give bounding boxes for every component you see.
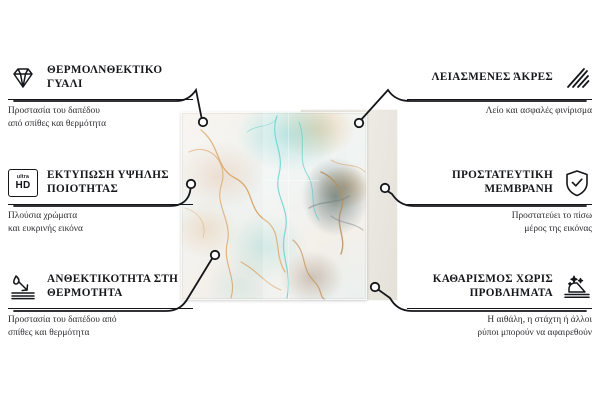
description-line: Προστασία του δαπέδου από: [8, 314, 193, 327]
feature-left-1: ΘΕΡΜΟΛΝΘΕΚΤΙΚΟ ΓΥΑΛΙ Προστασία του δαπέδ…: [8, 62, 193, 130]
feature-left-2: ultra HD ΕΚΤΥΠΩΣΗ ΥΨΗΛΗΣ ΠΟΙΟΤΗΤΑΣ Πλούσ…: [8, 167, 193, 235]
marble-veins: [181, 112, 367, 300]
description-line: Προστασία του δαπέδου: [8, 105, 193, 118]
feature-description: Προστατεύει το πίσω μέρος της εικόνας: [407, 210, 592, 235]
shield-check-icon: [562, 168, 592, 198]
glass-panel: [181, 112, 367, 300]
description-line: σπίθες και θερμότητα: [8, 327, 193, 340]
feature-header: ΑΝΘΕΚΤΙΚΟΤΗΤΑ ΣΤΗ ΘΕΡΜΟΤΗΤΑ: [8, 271, 193, 303]
feature-divider: [8, 308, 193, 309]
feature-divider: [407, 204, 592, 205]
product-image: [181, 112, 400, 300]
description-line: και ευκρινής εικόνα: [8, 223, 193, 236]
description-line: Η αιθάλη, η στάχτη ή άλλοι: [407, 314, 592, 327]
ultra-hd-icon: ultra HD: [8, 168, 38, 198]
description-line: από σπίθες και θερμότητα: [8, 118, 193, 131]
feature-header: ΚΑΘΑΡΙΣΜΟΣ ΧΩΡΙΣ ΠΡΟΒΛΗΜΑΤΑ: [407, 271, 592, 303]
diamond-icon: [8, 63, 38, 93]
description-line: Λείο και ασφαλές φινίρισμα: [407, 105, 592, 118]
feature-right-3: ΚΑΘΑΡΙΣΜΟΣ ΧΩΡΙΣ ΠΡΟΒΛΗΜΑΤΑ Η αιθάλη, η …: [407, 271, 592, 339]
feature-right-1: ΛΕΙΑΣΜΕΝΕΣ ΆΚΡΕΣ Λείο και ασφαλές φινίρι…: [407, 62, 592, 118]
feature-description: Πλούσια χρώματα και ευκρινής εικόνα: [8, 210, 193, 235]
feature-title: ΠΡΟΣΤΑΤΕΥΤΙΚΗ ΜΕΜΒΡΑΝΗ: [407, 169, 553, 196]
feature-title: ΕΚΤΥΠΩΣΗ ΥΨΗΛΗΣ ΠΟΙΟΤΗΤΑΣ: [47, 169, 193, 196]
feature-header: ΛΕΙΑΣΜΕΝΕΣ ΆΚΡΕΣ: [407, 62, 592, 94]
feature-description: Η αιθάλη, η στάχτη ή άλλοι ρύποι μπορούν…: [407, 314, 592, 339]
feature-title: ΑΝΘΕΚΤΙΚΟΤΗΤΑ ΣΤΗ ΘΕΡΜΟΤΗΤΑ: [47, 273, 193, 300]
feature-right-2: ΠΡΟΣΤΑΤΕΥΤΙΚΗ ΜΕΜΒΡΑΝΗ Προστατεύει το πί…: [407, 167, 592, 235]
feature-description: Προστασία του δαπέδου από σπίθες και θερ…: [8, 105, 193, 130]
description-line: ρύποι μπορούν να αφαιρεθούν: [407, 327, 592, 340]
feature-divider: [407, 308, 592, 309]
feature-header: ultra HD ΕΚΤΥΠΩΣΗ ΥΨΗΛΗΣ ΠΟΙΟΤΗΤΑΣ: [8, 167, 193, 199]
feature-divider: [407, 99, 592, 100]
description-line: Πλούσια χρώματα: [8, 210, 193, 223]
feature-title: ΛΕΙΑΣΜΕΝΕΣ ΆΚΡΕΣ: [407, 71, 553, 85]
feature-divider: [8, 204, 193, 205]
feature-description: Προστασία του δαπέδου από σπίθες και θερ…: [8, 314, 193, 339]
feature-header: ΘΕΡΜΟΛΝΘΕΚΤΙΚΟ ΓΥΑΛΙ: [8, 62, 193, 94]
smooth-edges-icon: [562, 63, 592, 93]
feature-header: ΠΡΟΣΤΑΤΕΥΤΙΚΗ ΜΕΜΒΡΑΝΗ: [407, 167, 592, 199]
infographic-stage: ΘΕΡΜΟΛΝΘΕΚΤΙΚΟ ΓΥΑΛΙ Προστασία του δαπέδ…: [0, 0, 600, 400]
feature-title: ΚΑΘΑΡΙΣΜΟΣ ΧΩΡΙΣ ΠΡΟΒΛΗΜΑΤΑ: [407, 273, 553, 300]
heat-resistance-icon: [8, 272, 38, 302]
description-line: μέρος της εικόνας: [407, 223, 592, 236]
description-line: Προστατεύει το πίσω: [407, 210, 592, 223]
feature-left-3: ΑΝΘΕΚΤΙΚΟΤΗΤΑ ΣΤΗ ΘΕΡΜΟΤΗΤΑ Προστασία το…: [8, 271, 193, 339]
easy-clean-icon: [562, 272, 592, 302]
feature-description: Λείο και ασφαλές φινίρισμα: [407, 105, 592, 118]
feature-title: ΘΕΡΜΟΛΝΘΕΚΤΙΚΟ ΓΥΑΛΙ: [47, 64, 193, 91]
feature-divider: [8, 99, 193, 100]
